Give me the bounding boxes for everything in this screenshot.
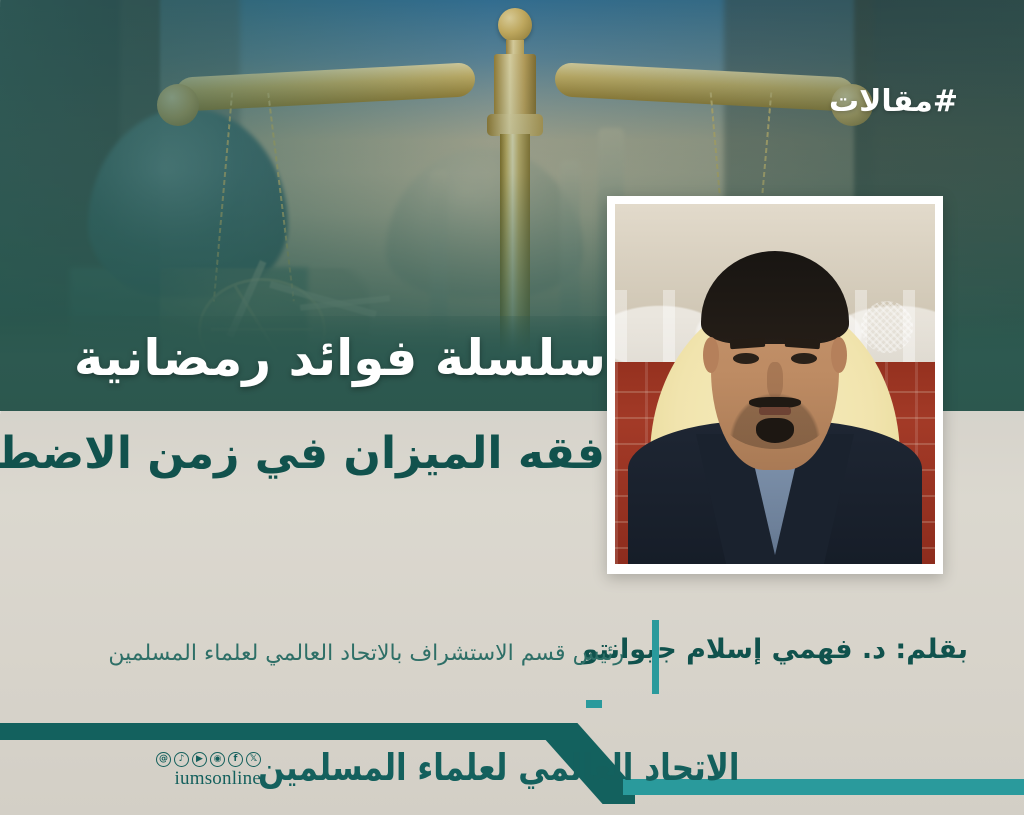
- footer-logo: 𝕏 f ◉ ▶ ♪ @ iumsonline: [156, 752, 261, 790]
- portrait-eye-right: [791, 353, 817, 364]
- portrait-ear-left: [703, 337, 719, 373]
- portrait-ear-right: [831, 337, 847, 373]
- author-portrait-frame: [607, 196, 943, 574]
- social-links: 𝕏 f ◉ ▶ ♪ @: [156, 752, 261, 767]
- portrait-nose: [767, 362, 783, 398]
- instagram-icon[interactable]: ◉: [210, 752, 225, 767]
- category-hashtag[interactable]: #مقالات: [829, 84, 958, 119]
- author-byline: بقلم: د. فهمي إسلام جيوانتو: [582, 634, 968, 665]
- article-poster: #مقالات سلسلة فوائد رمضانية فقه الميزان …: [0, 0, 1024, 815]
- decor-stripe-top: [0, 723, 560, 740]
- page-title: سلسلة فوائد رمضانية: [74, 330, 606, 386]
- tiktok-icon[interactable]: ♪: [174, 752, 189, 767]
- portrait-mouth: [759, 407, 791, 415]
- page-subtitle: فقه الميزان في زمن الاضطراب: [0, 429, 605, 478]
- byline-divider: [652, 620, 659, 694]
- facebook-icon[interactable]: f: [228, 752, 243, 767]
- portrait-moustache: [749, 397, 800, 409]
- organization-calligraphy-logo: الاتحاد العالمي لعلماء المسلمين: [258, 747, 739, 789]
- decor-tick: [586, 700, 602, 708]
- portrait-pattern-dot: [861, 301, 913, 353]
- author-role: رئيس قسم الاستشراف بالاتحاد العالمي لعلم…: [108, 641, 624, 666]
- threads-icon[interactable]: @: [156, 752, 171, 767]
- brand-name[interactable]: iumsonline: [175, 768, 261, 790]
- avatar: [615, 204, 935, 564]
- youtube-icon[interactable]: ▶: [192, 752, 207, 767]
